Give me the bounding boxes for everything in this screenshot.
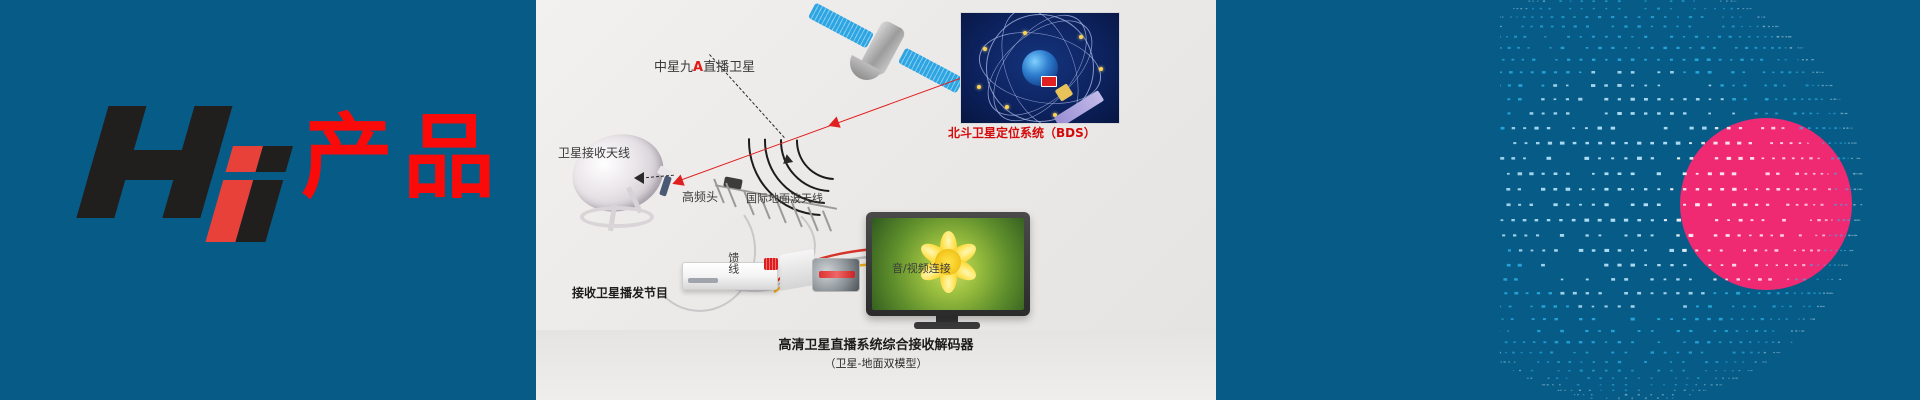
satellite-system-diagram: 中星九A直播卫星 卫星接收天线 高频头 馈线 国际地面波天线 音/视频连接 接收… (536, 0, 1216, 330)
bds-satellite-dot (1023, 31, 1027, 35)
receiver-front-panel (688, 278, 718, 283)
label-av-connection: 音/视频连接 (892, 262, 951, 276)
label-satellite-suffix: 直播卫星 (703, 60, 755, 75)
caption-line-2: （卫星-地面双模型） (536, 356, 1216, 373)
hi-logo (66, 88, 293, 218)
receiver-indicator-lights (764, 258, 778, 270)
satellite-solar-panel-left-icon (808, 3, 874, 49)
caption-line-1: 高清卫星直播系统综合接收解码器 (536, 336, 1216, 356)
banner-root: 产品 (0, 0, 1920, 400)
logo-i-dot-black (256, 146, 293, 172)
tv-stand-base (914, 322, 980, 329)
dotted-world-globe (1500, 0, 1920, 400)
set-top-box-photo (812, 258, 860, 292)
bds-satellite-dot (977, 85, 981, 89)
diagram-caption: 高清卫星直播系统综合接收解码器 （卫星-地面双模型） (536, 330, 1216, 400)
bds-satellite-dot (1005, 105, 1009, 109)
bds-arrow-head-left (670, 174, 684, 189)
bds-satellite-dot (1099, 67, 1103, 71)
bds-satellite-dot (1079, 35, 1083, 39)
satellite-solar-panel-right-icon (898, 48, 964, 94)
bds-constellation-inset (960, 12, 1120, 124)
label-lnb: 高频头 (682, 190, 718, 205)
china-flag-icon (1041, 76, 1057, 87)
lnb-arrow-head (634, 172, 644, 184)
logo-h-crossbar (87, 150, 220, 180)
label-satellite-prefix: 中星九 (654, 60, 693, 75)
label-feeder: 馈线 (726, 252, 740, 274)
brand-block: 产品 (85, 78, 505, 228)
label-satellite: 中星九A直播卫星 (654, 60, 755, 76)
dish-base-ring (580, 206, 654, 228)
page-title: 产品 (301, 112, 505, 204)
label-terrestrial-antenna: 国际地面波天线 (746, 192, 823, 206)
label-dish-antenna: 卫星接收天线 (558, 146, 630, 161)
bds-satellite-dot (983, 47, 987, 51)
label-satellite-mark: A (693, 60, 703, 75)
decoder-side-panel (780, 249, 814, 291)
label-dish-caption: 接收卫星播发节目 (572, 286, 668, 301)
globe-graphic (1500, 0, 1920, 400)
label-bds: 北斗卫星定位系统（BDS） (948, 126, 1096, 141)
